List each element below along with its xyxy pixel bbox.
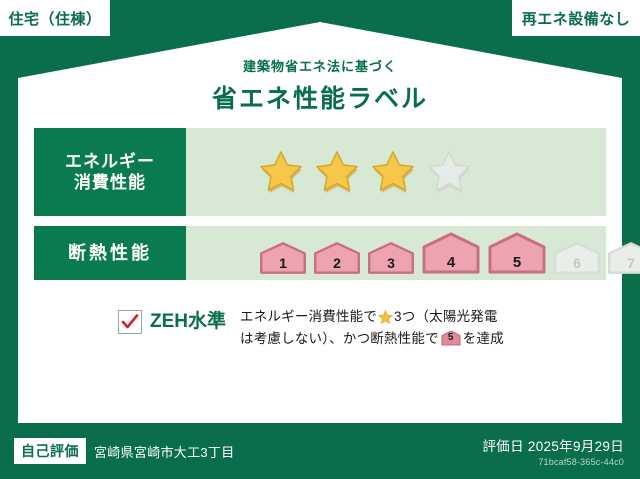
insulation-grade-badge: 7: [606, 241, 640, 275]
footer-left: 自己評価 宮崎県宮崎市大工3丁目: [14, 438, 235, 464]
energy-performance-row: エネルギー 消費性能: [34, 128, 606, 216]
zeh-description-line1: エネルギー消費性能で3つ（太陽光発電: [240, 306, 504, 328]
building-type-badge-label: 住宅（住棟）: [8, 8, 101, 29]
footer-right: 評価日 2025年9月29日 71bcaf58-365c-44c0: [482, 435, 624, 467]
insulation-performance-label: 断熱性能: [34, 226, 186, 280]
insulation-grade-value: 5: [486, 254, 548, 271]
insulation-grade-value: 6: [552, 255, 602, 271]
footer-bar: 自己評価 宮崎県宮崎市大工3丁目 評価日 2025年9月29日 71bcaf58…: [0, 423, 640, 479]
zeh-standard-row: ZEH水準 エネルギー消費性能で3つ（太陽光発電 は考慮しない）、かつ断熱性能で…: [118, 306, 622, 351]
insulation-grade-value: 7: [606, 255, 640, 271]
insulation-grade-value: 1: [258, 255, 308, 271]
insulation-performance-row: 断熱性能 1234567: [34, 226, 606, 280]
evaluation-id: 71bcaf58-365c-44c0: [482, 457, 624, 467]
zeh-description: エネルギー消費性能で3つ（太陽光発電 は考慮しない）、かつ断熱性能で5を達成: [240, 306, 504, 351]
energy-performance-label-line2: 消費性能: [74, 172, 146, 193]
insulation-grade-badge: 4: [420, 231, 482, 275]
title-block: 建築物省エネ法に基づく 省エネ性能ラベル: [0, 56, 640, 115]
zeh-desc-line1-a: エネルギー消費性能で: [240, 309, 377, 324]
renewable-energy-badge: 再エネ設備なし: [512, 0, 640, 36]
energy-performance-label-line1: エネルギー: [65, 151, 155, 172]
building-type-badge: 住宅（住棟）: [0, 0, 110, 36]
zeh-label: ZEH水準: [150, 306, 226, 338]
energy-performance-label: エネルギー 消費性能: [34, 128, 186, 216]
insulation-grade-value: 4: [420, 254, 482, 271]
insulation-grade-badge: 1: [258, 241, 308, 275]
zeh-desc-line2-a: は考慮しない）、かつ断熱性能で: [240, 331, 439, 346]
star-icon-empty: [426, 150, 472, 194]
star-icon-filled: [314, 150, 360, 194]
inline-grade-badge: 5: [441, 330, 461, 346]
property-address: 宮崎県宮崎市大工3丁目: [94, 442, 235, 461]
star-icon-filled: [258, 150, 304, 194]
insulation-grade-badge: 6: [552, 241, 602, 275]
inline-grade-value: 5: [441, 330, 461, 347]
zeh-description-line2: は考慮しない）、かつ断熱性能で5を達成: [240, 328, 504, 350]
star-rating: [186, 128, 606, 216]
insulation-grade-badge: 2: [312, 241, 362, 275]
zeh-checkbox: [118, 310, 142, 334]
zeh-desc-line2-b: を達成: [463, 331, 504, 346]
title-subtitle: 建築物省エネ法に基づく: [0, 56, 640, 75]
insulation-grade-value: 3: [366, 255, 416, 271]
star-icon-filled: [370, 150, 416, 194]
zeh-desc-line1-b: 3つ（太陽光発電: [394, 309, 498, 324]
star-icon: [378, 310, 393, 324]
insulation-grade-value: 2: [312, 255, 362, 271]
check-icon: [121, 314, 139, 330]
evaluation-date: 評価日 2025年9月29日: [482, 435, 624, 455]
renewable-energy-badge-label: 再エネ設備なし: [522, 8, 631, 29]
label-panel: エネルギー 消費性能 断熱性能 1234567 ZEH水準 エネルギー消費性能で…: [18, 128, 622, 423]
self-evaluation-badge: 自己評価: [14, 438, 86, 464]
page-title: 省エネ性能ラベル: [0, 79, 640, 115]
insulation-grade-scale: 1234567: [186, 226, 640, 280]
insulation-grade-badge: 5: [486, 231, 548, 275]
insulation-grade-badge: 3: [366, 241, 416, 275]
